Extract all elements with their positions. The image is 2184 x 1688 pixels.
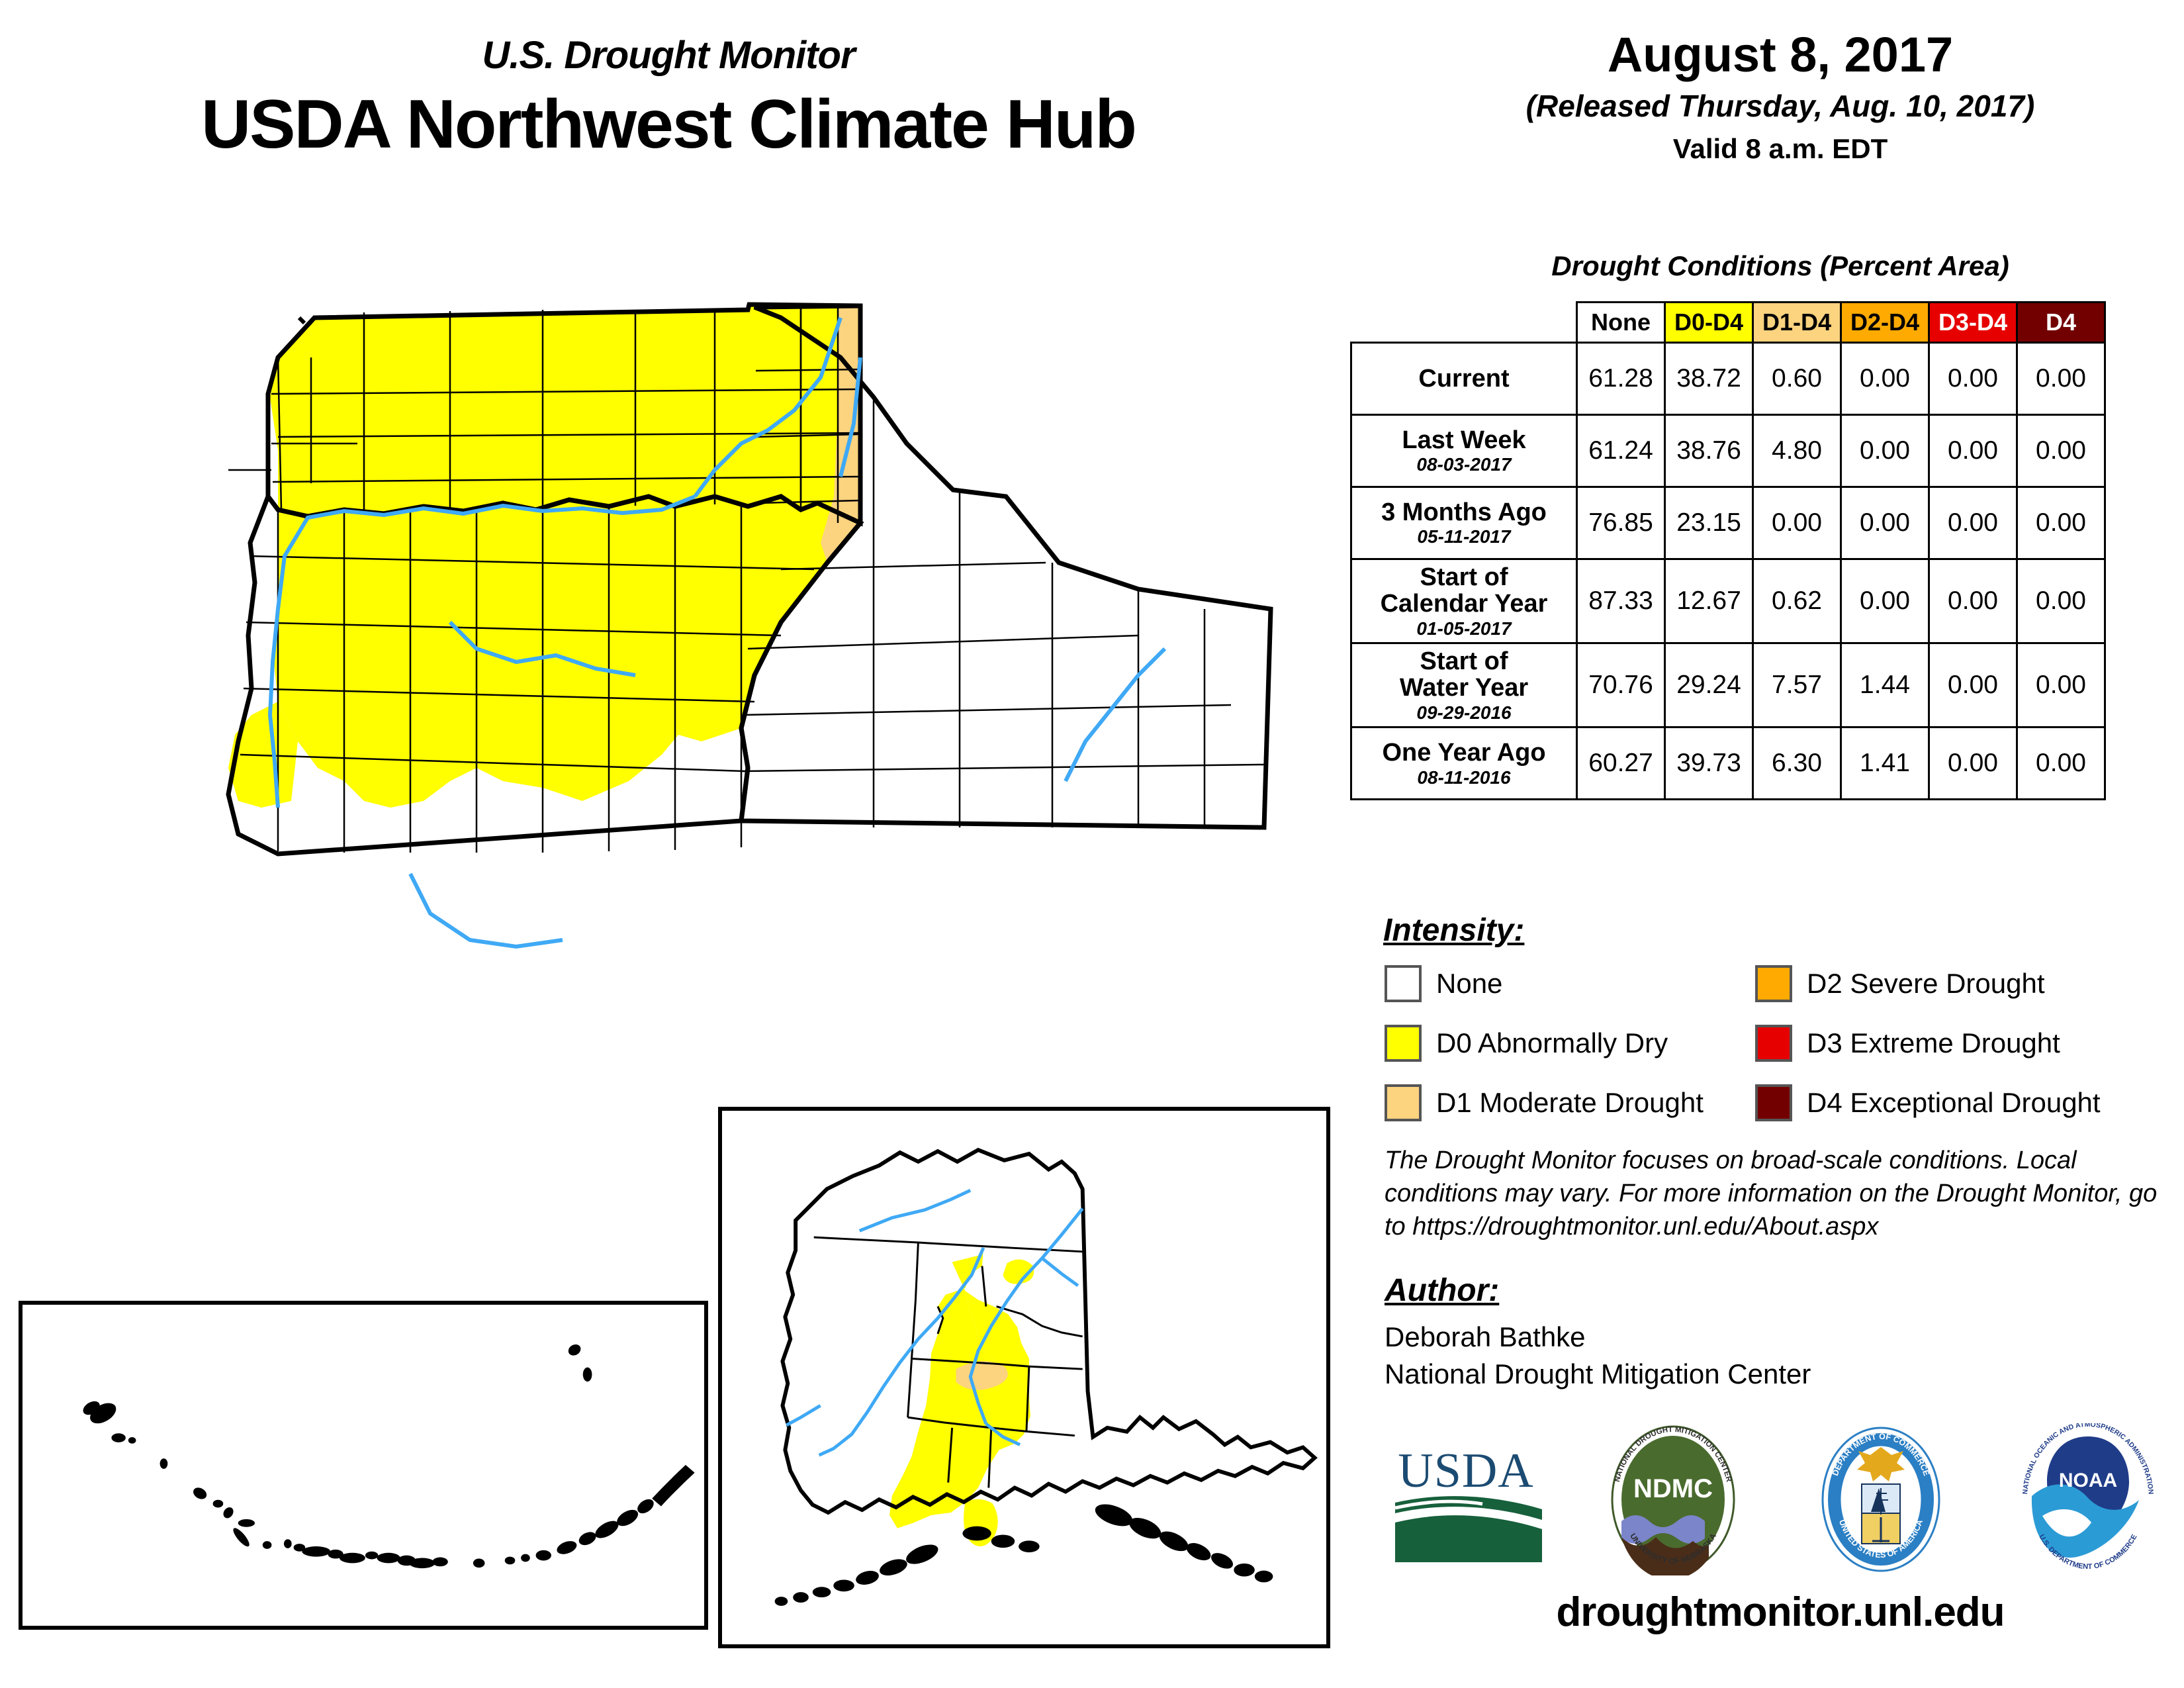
- drought-conditions-table: None D0-D4 D1-D4 D2-D4 D3-D4 D4 Current6…: [1350, 301, 2106, 800]
- legend-swatch-d4: [1755, 1084, 1792, 1121]
- table-cell-d1-d4: 0.62: [1753, 559, 1841, 643]
- author-affiliation: National Drought Mitigation Center: [1385, 1356, 1811, 1393]
- intensity-heading: Intensity:: [1383, 912, 1524, 949]
- table-cell-d0-d4: 29.24: [1665, 643, 1753, 727]
- table-cell-d4: 0.00: [2017, 487, 2105, 559]
- disclaimer-text: The Drought Monitor focuses on broad-sca…: [1385, 1144, 2165, 1243]
- legend-row: D0 Abnormally DryD3 Extreme Drought: [1385, 1018, 2172, 1068]
- usda-logo: USDA: [1383, 1423, 1549, 1575]
- table-row: Current61.2838.720.600.000.000.00: [1351, 343, 2105, 415]
- column-header-none: None: [1577, 303, 1665, 343]
- table-cell-d4: 0.00: [2017, 343, 2105, 415]
- map-date: August 8, 2017: [1390, 26, 2171, 83]
- table-cell-d3-d4: 0.00: [1929, 415, 2017, 487]
- legend-item-d2: D2 Severe Drought: [1755, 965, 2126, 1002]
- row-label-cell: 3 Months Ago05-11-2017: [1351, 487, 1577, 559]
- release-date: (Released Thursday, Aug. 10, 2017): [1390, 88, 2171, 124]
- legend-swatch-d0: [1385, 1025, 1422, 1062]
- table-header-row: None D0-D4 D1-D4 D2-D4 D3-D4 D4: [1351, 303, 2105, 343]
- logo-strip: USDA NDMC NATIONAL DROUGHT MITIGATION CE…: [1383, 1423, 2171, 1575]
- page-title: USDA Northwest Climate Hub: [0, 85, 1337, 164]
- table-cell-d4: 0.00: [2017, 559, 2105, 643]
- valid-time: Valid 8 a.m. EDT: [1390, 133, 2171, 165]
- row-date: 08-11-2016: [1355, 768, 1573, 788]
- aleutian-island-shapes: [81, 1342, 695, 1568]
- legend-label-d3: D3 Extreme Drought: [1807, 1027, 2060, 1059]
- row-date: 08-03-2017: [1355, 455, 1573, 475]
- table-row: Start ofCalendar Year01-05-201787.3312.6…: [1351, 559, 2105, 643]
- column-header-d2-d4: D2-D4: [1841, 303, 1929, 343]
- row-label-cell: One Year Ago08-11-2016: [1351, 727, 1577, 800]
- table-cell-d1-d4: 7.57: [1753, 643, 1841, 727]
- table-cell-none: 61.24: [1577, 415, 1665, 487]
- legend-item-d1: D1 Moderate Drought: [1385, 1084, 1755, 1121]
- table-cell-d0-d4: 12.67: [1665, 559, 1753, 643]
- legend-item-none: None: [1385, 965, 1755, 1002]
- legend-swatch-none: [1385, 965, 1422, 1002]
- date-block: August 8, 2017 (Released Thursday, Aug. …: [1390, 26, 2171, 165]
- table-cell-d1-d4: 4.80: [1753, 415, 1841, 487]
- legend-row: D1 Moderate DroughtD4 Exceptional Drough…: [1385, 1078, 2172, 1128]
- alaska-drought-inset: [718, 1107, 1330, 1648]
- column-header-d1-d4: D1-D4: [1753, 303, 1841, 343]
- table-cell-d0-d4: 39.73: [1665, 727, 1753, 800]
- table-cell-none: 87.33: [1577, 559, 1665, 643]
- table-cell-d4: 0.00: [2017, 415, 2105, 487]
- row-label-cell: Current: [1351, 343, 1577, 415]
- table-cell-d2-d4: 0.00: [1841, 559, 1929, 643]
- hub-title-block: U.S. Drought Monitor USDA Northwest Clim…: [0, 33, 1337, 164]
- table-cell-d3-d4: 0.00: [1929, 343, 2017, 415]
- row-label: Start ofWater Year: [1355, 648, 1573, 702]
- legend-item-d0: D0 Abnormally Dry: [1385, 1025, 1755, 1062]
- table-cell-d4: 0.00: [2017, 727, 2105, 800]
- site-url: droughtmonitor.unl.edu: [1390, 1589, 2171, 1636]
- doc-seal-logo: DEPARTMENT OF COMMERCE UNITED STATES OF …: [1798, 1423, 1964, 1575]
- table-cell-d2-d4: 0.00: [1841, 487, 1929, 559]
- table-cell-d3-d4: 0.00: [1929, 559, 2017, 643]
- table-cell-d3-d4: 0.00: [1929, 727, 2017, 800]
- row-label-cell: Start ofWater Year09-29-2016: [1351, 643, 1577, 727]
- row-label: Current: [1355, 365, 1573, 392]
- svg-text:NDMC: NDMC: [1633, 1474, 1713, 1503]
- row-label: Last Week: [1355, 427, 1573, 453]
- table-cell-d0-d4: 38.76: [1665, 415, 1753, 487]
- column-header-d3-d4: D3-D4: [1929, 303, 2017, 343]
- table-row: 3 Months Ago05-11-201776.8523.150.000.00…: [1351, 487, 2105, 559]
- table-cell-d1-d4: 6.30: [1753, 727, 1841, 800]
- author-block: Deborah Bathke National Drought Mitigati…: [1385, 1319, 1811, 1393]
- row-label-cell: Last Week08-03-2017: [1351, 415, 1577, 487]
- legend-swatch-d3: [1755, 1025, 1792, 1062]
- column-header-d0-d4: D0-D4: [1665, 303, 1753, 343]
- alaska-southeast-islands: [775, 1500, 1273, 1606]
- noaa-logo: NOAA NATIONAL OCEANIC AND ATMOSPHERIC AD…: [2005, 1423, 2171, 1575]
- table-cell-d0-d4: 23.15: [1665, 487, 1753, 559]
- legend-label-d1: D1 Moderate Drought: [1436, 1087, 1704, 1119]
- row-label-cell: Start ofCalendar Year01-05-2017: [1351, 559, 1577, 643]
- row-date: 09-29-2016: [1355, 703, 1573, 723]
- table-body: Current61.2838.720.600.000.000.00Last We…: [1351, 343, 2105, 800]
- table-cell-d4: 0.00: [2017, 643, 2105, 727]
- legend-item-d3: D3 Extreme Drought: [1755, 1025, 2126, 1062]
- table-cell-d3-d4: 0.00: [1929, 643, 2017, 727]
- table-caption: Drought Conditions (Percent Area): [1390, 250, 2171, 282]
- author-heading: Author:: [1385, 1272, 1499, 1309]
- row-date: 05-11-2017: [1355, 527, 1573, 547]
- column-header-d4: D4: [2017, 303, 2105, 343]
- table-cell-d1-d4: 0.00: [1753, 487, 1841, 559]
- row-label: Start ofCalendar Year: [1355, 564, 1573, 618]
- legend-label-d0: D0 Abnormally Dry: [1436, 1027, 1668, 1059]
- table-cell-d2-d4: 0.00: [1841, 415, 1929, 487]
- table-row: Start ofWater Year09-29-201670.7629.247.…: [1351, 643, 2105, 727]
- table-cell-none: 61.28: [1577, 343, 1665, 415]
- d0-drought-area: [270, 305, 860, 808]
- legend-swatch-d2: [1755, 965, 1792, 1002]
- table-cell-d0-d4: 38.72: [1665, 343, 1753, 415]
- row-label: 3 Months Ago: [1355, 499, 1573, 526]
- table-cell-d1-d4: 0.60: [1753, 343, 1841, 415]
- table-cell-d2-d4: 1.44: [1841, 643, 1929, 727]
- intensity-legend: NoneD2 Severe DroughtD0 Abnormally DryD3…: [1385, 959, 2172, 1137]
- table-cell-d3-d4: 0.00: [1929, 487, 2017, 559]
- table-cell-d2-d4: 0.00: [1841, 343, 1929, 415]
- table-cell-none: 60.27: [1577, 727, 1665, 800]
- aleutian-islands-inset: [19, 1301, 708, 1630]
- ndmc-logo: NDMC NATIONAL DROUGHT MITIGATION CENTER …: [1590, 1423, 1756, 1575]
- legend-label-none: None: [1436, 968, 1502, 1000]
- legend-row: NoneD2 Severe Drought: [1385, 959, 2172, 1009]
- legend-label-d2: D2 Severe Drought: [1807, 968, 2045, 1000]
- table-cell-none: 70.76: [1577, 643, 1665, 727]
- author-name: Deborah Bathke: [1385, 1319, 1811, 1356]
- legend-item-d4: D4 Exceptional Drought: [1755, 1084, 2126, 1121]
- legend-label-d4: D4 Exceptional Drought: [1807, 1087, 2101, 1119]
- alaska-coastline: [782, 1150, 1314, 1513]
- table-cell-d2-d4: 1.41: [1841, 727, 1929, 800]
- pacific-northwest-drought-map: [79, 278, 1337, 1105]
- table-corner-cell: [1351, 303, 1577, 343]
- table-row: One Year Ago08-11-201660.2739.736.301.41…: [1351, 727, 2105, 800]
- svg-text:NOAA: NOAA: [2059, 1470, 2117, 1491]
- svg-text:USDA: USDA: [1398, 1444, 1533, 1498]
- row-label: One Year Ago: [1355, 739, 1573, 766]
- table-cell-none: 76.85: [1577, 487, 1665, 559]
- table-row: Last Week08-03-201761.2438.764.800.000.0…: [1351, 415, 2105, 487]
- legend-swatch-d1: [1385, 1084, 1422, 1121]
- drought-monitor-subtitle: U.S. Drought Monitor: [0, 33, 1337, 77]
- row-date: 01-05-2017: [1355, 619, 1573, 639]
